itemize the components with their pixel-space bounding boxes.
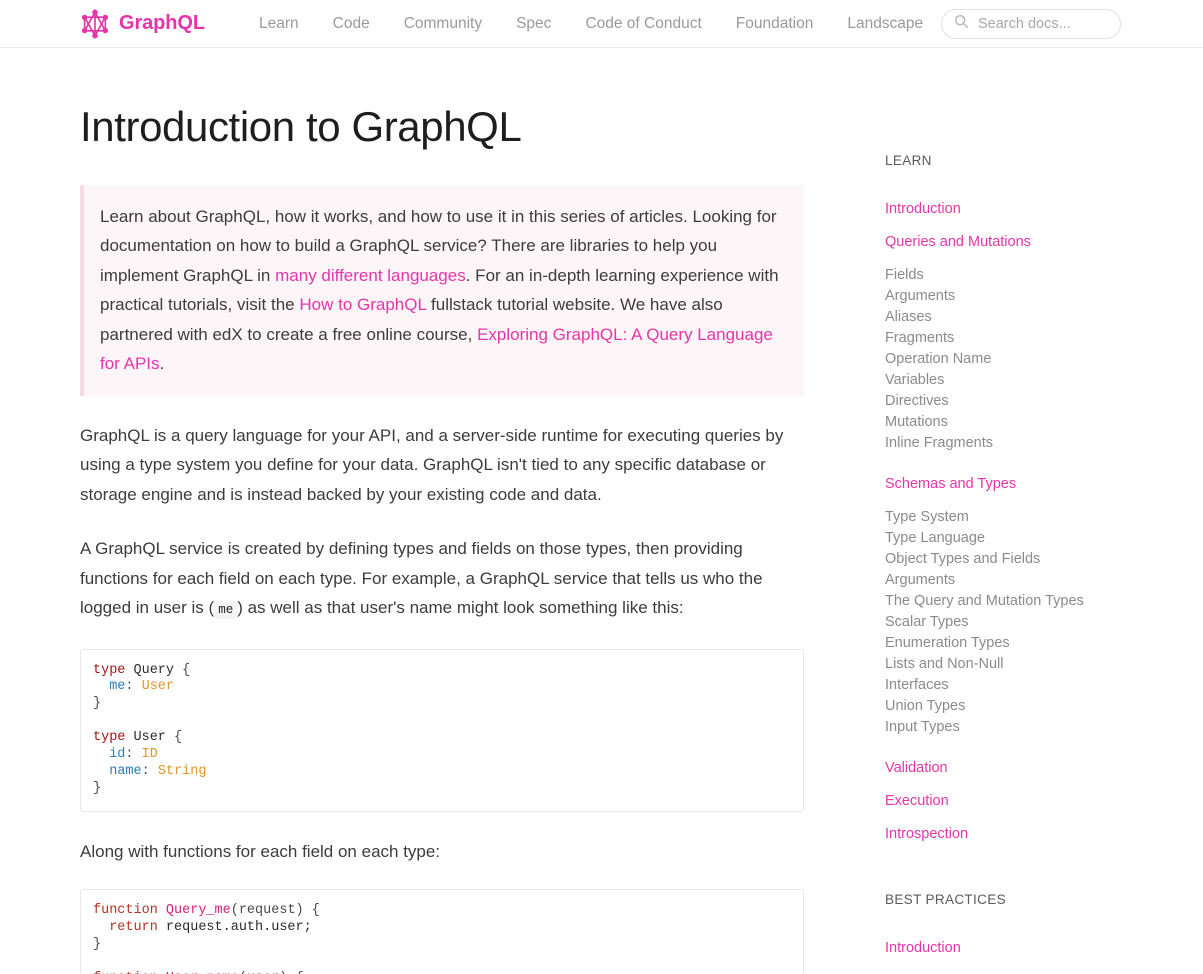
sidebar-item-aliases[interactable]: Aliases xyxy=(885,307,1143,328)
code-token-colon-1: : xyxy=(125,679,141,694)
nav-link-spec[interactable]: Spec xyxy=(499,15,568,33)
sidebar-item-operation-name[interactable]: Operation Name xyxy=(885,349,1143,370)
sidebar-heading-best-practices: BEST PRACTICES xyxy=(885,892,1143,907)
code-token-user-name: User xyxy=(125,730,174,745)
code-token-id-type: ID xyxy=(142,747,158,762)
nav-link-community[interactable]: Community xyxy=(387,15,499,33)
code-token-id-field: id xyxy=(93,747,125,762)
sidebar-item-scalar-types[interactable]: Scalar Types xyxy=(885,612,1143,633)
nav-link-foundation[interactable]: Foundation xyxy=(719,15,831,33)
sidebar-item-mutations[interactable]: Mutations xyxy=(885,412,1143,433)
main-nav: Learn Code Community Spec Code of Conduc… xyxy=(242,15,940,33)
code-token-user-type: User xyxy=(142,679,174,694)
code-block-resolvers-content: function Query_me(request) { return requ… xyxy=(93,903,789,974)
graphql-logo-icon xyxy=(80,9,110,39)
sidebar-item-input-types[interactable]: Input Types xyxy=(885,717,1143,738)
code-token-query-me-fn: Query_me xyxy=(158,903,231,918)
code-block-resolvers: function Query_me(request) { return requ… xyxy=(80,889,804,974)
paragraph-service: A GraphQL service is created by defining… xyxy=(80,534,802,626)
sidebar-group-introspection: Introspection xyxy=(885,826,1143,842)
brand-name: GraphQL xyxy=(119,12,205,35)
search-icon xyxy=(954,14,969,34)
code-token-fn-brace-close-1: } xyxy=(93,937,101,952)
paragraph-along-with: Along with functions for each field on e… xyxy=(80,837,802,867)
search-box[interactable] xyxy=(941,9,1121,39)
sidebar-item-enumeration-types[interactable]: Enumeration Types xyxy=(885,633,1143,654)
sidebar-item-union-types[interactable]: Union Types xyxy=(885,696,1143,717)
main-content: Introduction to GraphQL Learn about Grap… xyxy=(0,48,860,974)
code-token-string-type: String xyxy=(158,764,207,779)
sidebar-item-type-language[interactable]: Type Language xyxy=(885,528,1143,549)
search-input[interactable] xyxy=(978,16,1108,32)
sidebar-item-directives[interactable]: Directives xyxy=(885,391,1143,412)
sidebar-item-bp-introduction[interactable]: Introduction xyxy=(885,940,1143,956)
code-token-return-kw-1: return xyxy=(93,920,158,935)
code-token-name-field: name xyxy=(93,764,142,779)
info-callout: Learn about GraphQL, how it works, and h… xyxy=(80,185,804,396)
sidebar-group-queries-and-mutations: Queries and Mutations Fields Arguments A… xyxy=(885,234,1143,454)
code-token-function-kw-1: function xyxy=(93,903,158,918)
code-token-brace-close-2: } xyxy=(93,781,101,796)
sidebar-item-queries-and-mutations[interactable]: Queries and Mutations xyxy=(885,234,1143,250)
sidebar-item-fields[interactable]: Fields xyxy=(885,265,1143,286)
page-body: Introduction to GraphQL Learn about Grap… xyxy=(0,48,1203,974)
nav-link-code[interactable]: Code xyxy=(316,15,387,33)
code-token-brace-open-2: { xyxy=(174,730,182,745)
sidebar-item-introduction[interactable]: Introduction xyxy=(885,201,1143,217)
sidebar-item-variables[interactable]: Variables xyxy=(885,370,1143,391)
code-token-brace-close-1: } xyxy=(93,696,101,711)
paragraph-service-text-b: ) as well as that user's name might look… xyxy=(237,598,683,617)
sidebar-item-arguments-schema[interactable]: Arguments xyxy=(885,570,1143,591)
sidebar-group-bp-introduction: Introduction xyxy=(885,940,1143,956)
code-token-brace-open-1: { xyxy=(182,663,190,678)
code-token-type-kw-2: type xyxy=(93,730,125,745)
docs-sidebar: LEARN Introduction Queries and Mutations… xyxy=(870,48,1143,974)
sidebar-item-object-types-and-fields[interactable]: Object Types and Fields xyxy=(885,549,1143,570)
code-token-colon-2: : xyxy=(125,747,141,762)
page-title: Introduction to GraphQL xyxy=(80,102,860,152)
sidebar-item-validation[interactable]: Validation xyxy=(885,760,1143,776)
callout-paragraph: Learn about GraphQL, how it works, and h… xyxy=(100,202,780,379)
sidebar-item-introspection[interactable]: Introspection xyxy=(885,826,1143,842)
code-token-type-kw: type xyxy=(93,663,125,678)
sidebar-item-execution[interactable]: Execution xyxy=(885,793,1143,809)
link-many-different-languages[interactable]: many different languages xyxy=(275,266,466,285)
code-token-args-1: (request) { xyxy=(231,903,320,918)
code-token-colon-3: : xyxy=(142,764,158,779)
sidebar-group-introduction: Introduction xyxy=(885,201,1143,217)
sidebar-item-type-system[interactable]: Type System xyxy=(885,507,1143,528)
code-block-schema-content: type Query { me: User } type User { id: … xyxy=(93,663,789,798)
paragraph-intro: GraphQL is a query language for your API… xyxy=(80,421,802,510)
sidebar-item-inline-fragments[interactable]: Inline Fragments xyxy=(885,433,1143,454)
sidebar-heading-learn: LEARN xyxy=(885,153,1143,168)
code-token-me-field: me xyxy=(93,679,125,694)
nav-link-code-of-conduct[interactable]: Code of Conduct xyxy=(568,15,718,33)
sidebar-item-fragments[interactable]: Fragments xyxy=(885,328,1143,349)
nav-link-learn[interactable]: Learn xyxy=(242,15,316,33)
brand-logo-link[interactable]: GraphQL xyxy=(80,9,205,39)
sidebar-item-lists-and-non-null[interactable]: Lists and Non-Null xyxy=(885,654,1143,675)
inline-code-me: me xyxy=(214,601,237,619)
sidebar-group-execution: Execution xyxy=(885,793,1143,809)
link-how-to-graphql[interactable]: How to GraphQL xyxy=(299,295,426,314)
sidebar-item-the-query-and-mutation-types[interactable]: The Query and Mutation Types xyxy=(885,591,1143,612)
callout-text-4: . xyxy=(160,354,165,373)
sidebar-group-validation: Validation xyxy=(885,760,1143,776)
sidebar-item-schemas-and-types[interactable]: Schemas and Types xyxy=(885,476,1143,492)
code-block-schema: type Query { me: User } type User { id: … xyxy=(80,649,804,812)
sidebar-group-schemas-and-types: Schemas and Types Type System Type Langu… xyxy=(885,476,1143,738)
code-token-query-name: Query xyxy=(125,663,182,678)
code-token-return-body-1: request.auth.user; xyxy=(158,920,312,935)
site-header: GraphQL Learn Code Community Spec Code o… xyxy=(0,0,1203,48)
sidebar-item-interfaces[interactable]: Interfaces xyxy=(885,675,1143,696)
sidebar-item-arguments[interactable]: Arguments xyxy=(885,286,1143,307)
nav-link-landscape[interactable]: Landscape xyxy=(830,15,940,33)
